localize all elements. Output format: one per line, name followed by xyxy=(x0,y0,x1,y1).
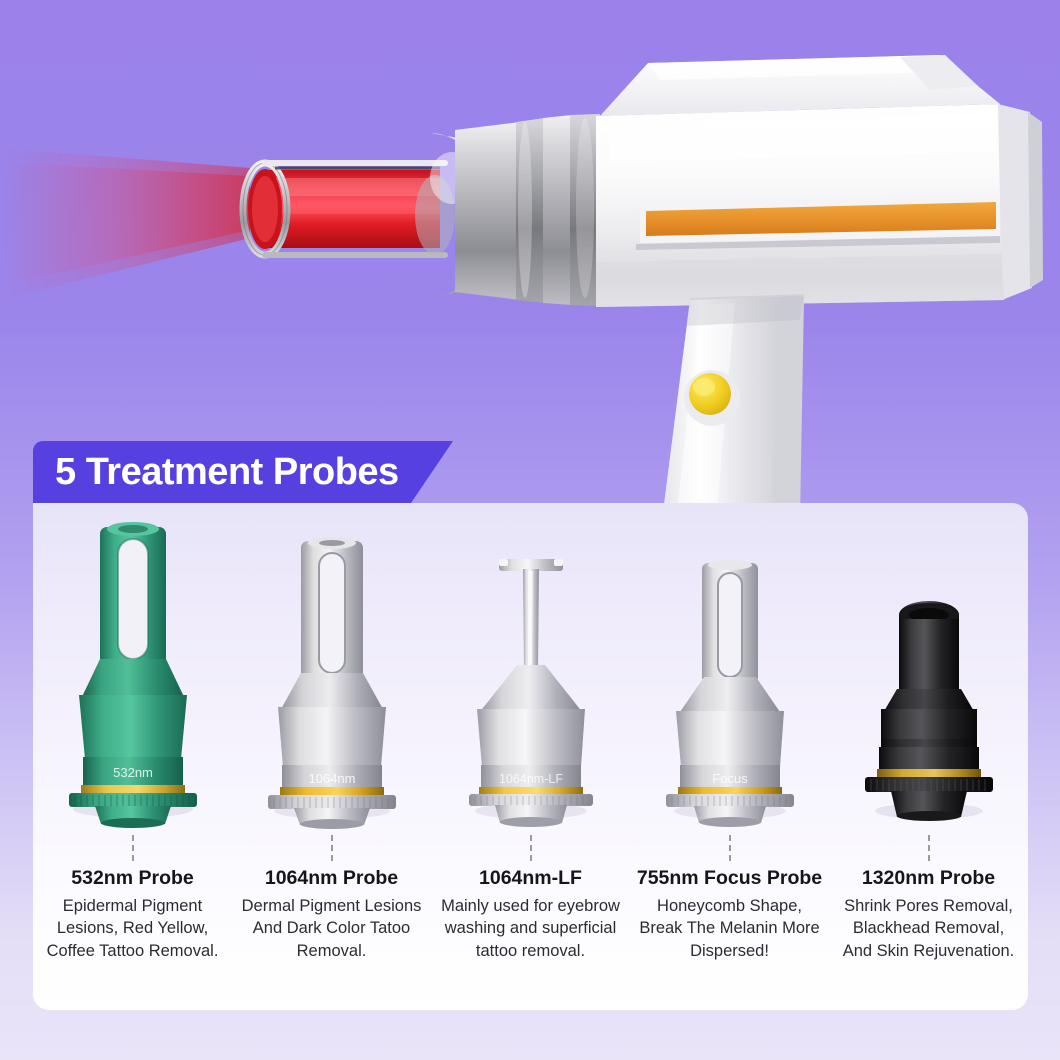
laser-beam-cylinder xyxy=(243,163,445,255)
probe-image-1320nm xyxy=(829,503,1028,833)
probe-title: 755nm Focus Probe xyxy=(631,867,828,891)
gold-ring xyxy=(81,785,185,794)
probe-engraving: Focus xyxy=(712,771,748,786)
probe-title: 532nm Probe xyxy=(65,867,199,891)
probe-title: 1064nm Probe xyxy=(259,867,404,891)
probe-image-1064nm: 1064nm xyxy=(232,503,431,833)
probe-item-1320nm[interactable]: 1320nm Probe Shrink Pores Removal, Black… xyxy=(829,503,1028,1010)
probe-item-755nm-focus[interactable]: Focus 755nm Focus Probe Honeycomb Shape,… xyxy=(630,503,829,1010)
probe-engraving: 1064nm xyxy=(309,771,356,786)
banner-title: 5 Treatment Probes xyxy=(55,453,399,491)
product-infographic: 5 Treatment Probes xyxy=(0,0,1060,1060)
probe-description: Mainly used for eyebrow washing and supe… xyxy=(431,895,630,962)
probe-image-755nm-focus: Focus xyxy=(630,503,829,833)
probe-description: Dermal Pigment Lesions And Dark Color Ta… xyxy=(232,895,431,962)
probe-image-532nm: 532nm xyxy=(33,503,232,833)
probe-description: Shrink Pores Removal, Blackhead Removal,… xyxy=(829,895,1028,962)
connector-line xyxy=(729,835,731,861)
probe-image-1064nm-lf: 1064nm-LF xyxy=(431,503,630,833)
probe-description: Honeycomb Shape, Break The Melanin More … xyxy=(630,895,829,962)
connector-line xyxy=(132,835,134,861)
connector-line xyxy=(530,835,532,861)
connector-line xyxy=(928,835,930,861)
probe-item-1064nm[interactable]: 1064nm 1064nm Probe Dermal Pigment Lesio… xyxy=(232,503,431,1010)
probe-engraving: 1064nm-LF xyxy=(499,772,563,786)
probe-item-532nm[interactable]: 532nm 532nm Probe Epide xyxy=(33,503,232,1010)
connector-line xyxy=(331,835,333,861)
probe-description: Epidermal Pigment Lesions, Red Yellow, C… xyxy=(33,895,232,962)
probe-title: 1320nm Probe xyxy=(856,867,1001,891)
probe-item-1064nm-lf[interactable]: 1064nm-LF 1064nm-LF Mainly used for eyeb… xyxy=(431,503,630,1010)
section-banner: 5 Treatment Probes xyxy=(33,441,453,503)
probes-card: 532nm 532nm Probe Epide xyxy=(33,503,1028,1010)
probe-list: 532nm 532nm Probe Epide xyxy=(33,503,1028,1010)
handpiece-body xyxy=(596,55,1043,307)
handpiece-grip xyxy=(662,294,804,520)
probe-engraving: 532nm xyxy=(113,765,153,780)
nozzle-collar xyxy=(455,114,600,306)
probe-title: 1064nm-LF xyxy=(473,867,588,891)
laser-beam-glow xyxy=(0,148,250,300)
